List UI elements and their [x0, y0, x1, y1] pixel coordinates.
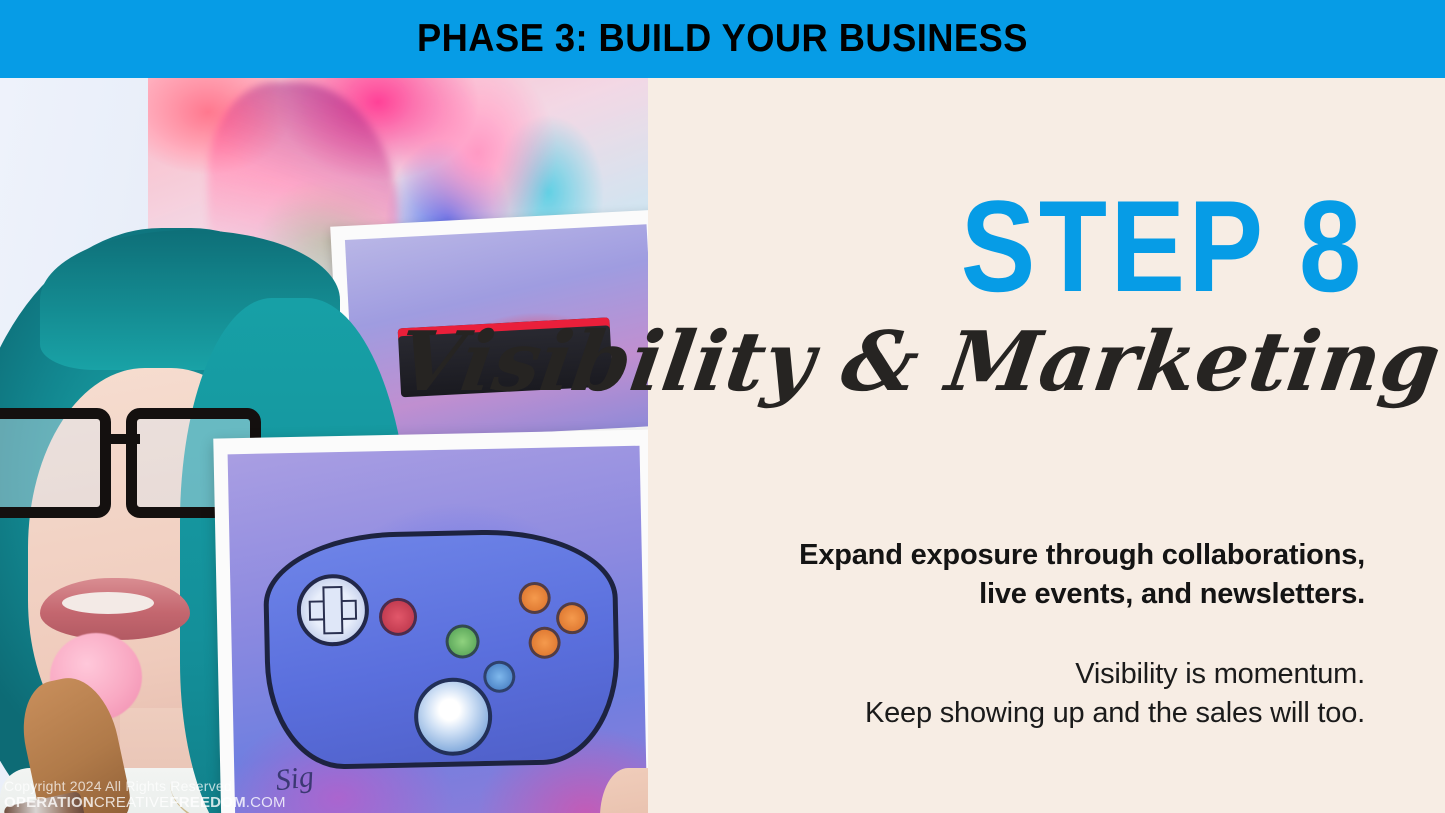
url-part-tld: .COM: [246, 794, 286, 811]
website-url: OPERATIONCREATIVEFREEDOM.COM: [4, 794, 286, 811]
content-panel: STEP 8 Visibility & Marketing Expand exp…: [648, 78, 1445, 813]
url-part-freedom: FREEDOM: [169, 794, 245, 811]
secondary-description: Visibility is momentum. Keep showing up …: [705, 655, 1365, 732]
copyright-text: Copyright 2024 All Rights Reserved: [4, 778, 286, 794]
lens-left: [0, 408, 111, 518]
print-front: Sig 1/25 N64 CONTROLLER: [213, 429, 648, 813]
primary-description-line-2: live events, and newsletters.: [705, 575, 1365, 614]
artist-photo: Sig 1/25 N64 CONTROLLER Copyright 2024 A…: [0, 78, 648, 813]
primary-description-line-1: Expand exposure through collaborations,: [705, 536, 1365, 575]
step-number-heading: STEP 8: [961, 181, 1365, 311]
page-title: PHASE 3: BUILD YOUR BUSINESS: [417, 17, 1028, 61]
secondary-description-line-2: Keep showing up and the sales will too.: [705, 694, 1365, 733]
step-title-script: Visibility & Marketing: [393, 321, 1445, 403]
secondary-description-line-1: Visibility is momentum.: [705, 655, 1365, 694]
n64-controller-artwork: Sig: [228, 446, 648, 813]
primary-description: Expand exposure through collaborations, …: [705, 536, 1365, 614]
button-c-down-icon: [528, 627, 561, 660]
copyright-overlay: Copyright 2024 All Rights Reserved OPERA…: [4, 778, 286, 811]
slide-root: PHASE 3: BUILD YOUR BUSINESS: [0, 0, 1445, 813]
header-banner: PHASE 3: BUILD YOUR BUSINESS: [0, 0, 1445, 78]
lips: [40, 578, 190, 640]
url-part-operation: OPERATION: [4, 794, 94, 811]
url-part-creative: CREATIVE: [94, 794, 170, 811]
glasses-bridge: [100, 434, 140, 444]
